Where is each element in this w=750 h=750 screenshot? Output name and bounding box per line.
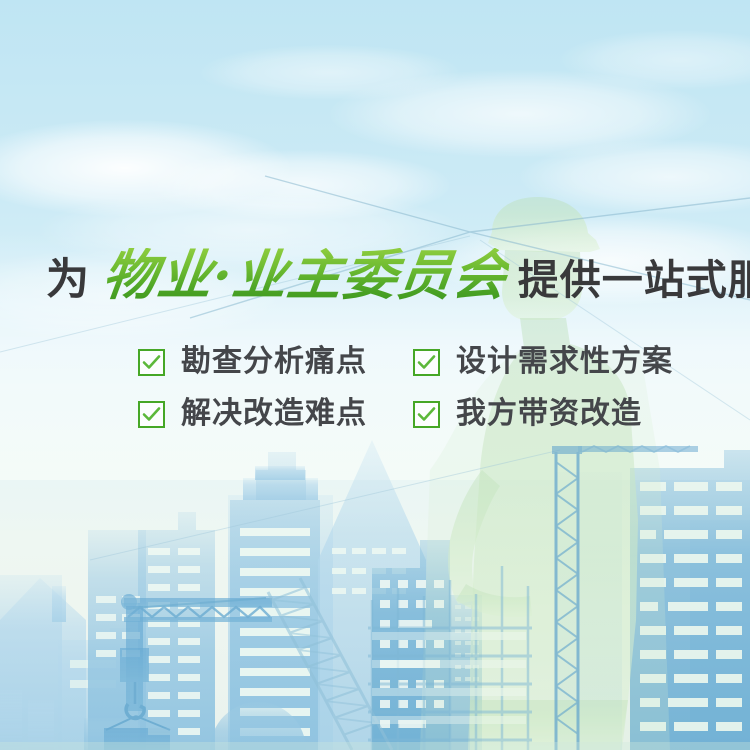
feature-label: 设计需求性方案 [456, 347, 673, 377]
feature-list: 勘查分析痛点 设计需求性方案 解决改造难点 我方带资改造 [138, 336, 698, 440]
feature-item-4: 我方带资改造 [413, 399, 688, 429]
checkbox-check-icon [138, 349, 165, 376]
promo-banner: 为 物业·业主委员会 提供一站式服务 勘查分析痛点 设计需求性方案 解决改造难点 [0, 0, 750, 750]
feature-item-2: 设计需求性方案 [413, 347, 688, 377]
feature-item-3: 解决改造难点 [138, 399, 413, 429]
headline-prefix: 为 [46, 259, 89, 302]
feature-label: 解决改造难点 [181, 399, 367, 429]
feature-label: 勘查分析痛点 [181, 347, 367, 377]
page-title: 为 物业·业主委员会 提供一站式服务 [46, 248, 750, 302]
feature-label: 我方带资改造 [456, 399, 642, 429]
headline-suffix: 提供一站式服务 [518, 260, 750, 301]
ground-band [0, 742, 750, 750]
feature-item-1: 勘查分析痛点 [138, 347, 413, 377]
headline-brand: 物业·业主委员会 [100, 248, 511, 302]
checkbox-check-icon [413, 349, 440, 376]
construction-crane-icon [104, 594, 272, 750]
checkbox-check-icon [413, 401, 440, 428]
tower-crane-right [552, 446, 698, 750]
checkbox-check-icon [138, 401, 165, 428]
construction-frame [368, 566, 532, 750]
